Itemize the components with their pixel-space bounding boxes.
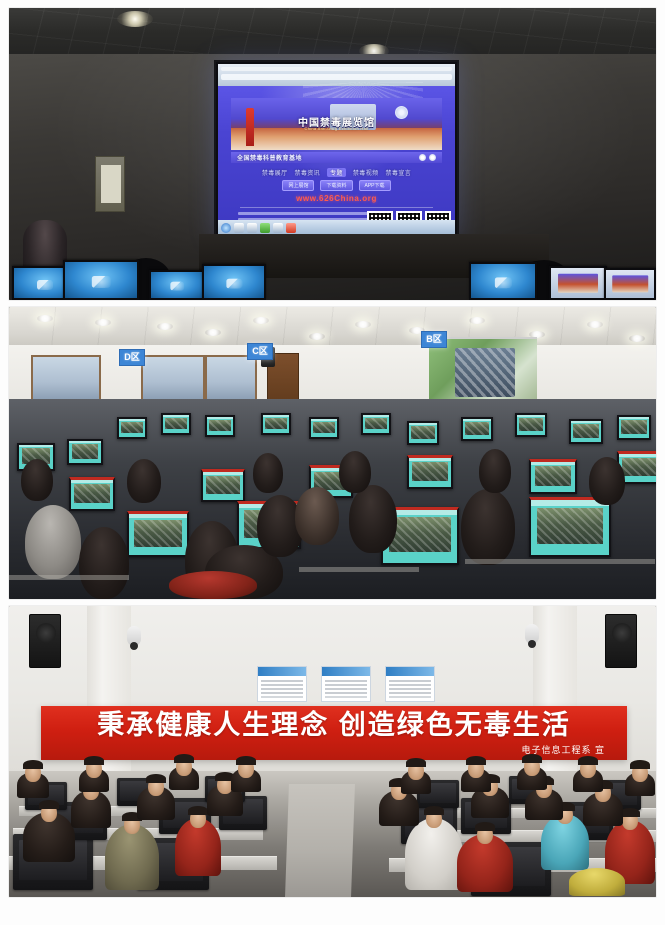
center-aisle — [285, 784, 355, 897]
site-hero-banner: 中国禁毒展览馆 China Anti-Drug Exhibition Hall — [231, 98, 442, 150]
desk — [299, 567, 419, 572]
student — [349, 485, 397, 553]
monitor — [202, 264, 266, 300]
window — [205, 355, 257, 401]
window — [31, 355, 101, 401]
monitor — [261, 413, 291, 435]
monitor — [604, 268, 656, 300]
browser-address-bar[interactable] — [221, 74, 452, 80]
nav-item-0[interactable]: 禁毒展厅 — [262, 168, 288, 177]
site-action-buttons[interactable]: 网上展馆 下载资料 APP下载 — [218, 180, 455, 191]
ceiling-light-icon — [469, 317, 485, 324]
website-body: 中国禁毒展览馆 China Anti-Drug Exhibition Hall … — [218, 86, 455, 220]
projection-screen: 中国禁毒展览馆 China Anti-Drug Exhibition Hall … — [214, 60, 459, 240]
student — [25, 505, 81, 579]
student — [169, 766, 199, 790]
student — [401, 770, 431, 794]
ceiling-light-icon — [157, 323, 173, 330]
site-subtitle-bar: 全国禁毒科普教育基地 — [231, 152, 442, 163]
student — [169, 571, 257, 599]
student — [105, 824, 159, 890]
student-crowd — [9, 399, 656, 599]
student — [23, 812, 75, 862]
banner-slogan: 秉承健康人生理念 创造绿色无毒生活 — [41, 712, 627, 739]
start-orb-icon[interactable] — [221, 223, 231, 233]
student — [339, 451, 371, 493]
monitor — [69, 477, 115, 511]
student — [71, 790, 111, 828]
divider — [240, 207, 433, 208]
monitor — [549, 266, 607, 300]
student — [379, 790, 419, 826]
button-online-hall[interactable]: 网上展馆 — [282, 180, 314, 191]
student — [79, 527, 129, 599]
monitor — [407, 421, 439, 445]
monitor — [127, 511, 189, 557]
ceiling-light-icon — [205, 329, 221, 336]
photo-top-lecture-hall: 中国禁毒展览馆 China Anti-Drug Exhibition Hall … — [9, 8, 656, 300]
monitor — [67, 439, 103, 465]
student — [405, 818, 463, 890]
nav-item-2[interactable]: 专题 — [327, 168, 346, 177]
site-nav[interactable]: 禁毒展厅 禁毒资讯 专题 禁毒视频 禁毒宣言 — [218, 168, 455, 177]
zone-sign-d: D区 — [119, 349, 145, 366]
monitor — [205, 415, 235, 437]
student — [589, 457, 625, 505]
student — [573, 768, 603, 792]
site-url-text: www.626China.org — [218, 194, 455, 203]
monitor — [361, 413, 391, 435]
ceiling-light-icon — [629, 335, 645, 342]
taskbar-icon[interactable] — [260, 223, 270, 233]
monitor — [515, 413, 547, 437]
wall-poster — [385, 666, 435, 702]
student — [127, 459, 161, 503]
student — [231, 768, 261, 792]
ceiling-light-icon — [587, 321, 603, 328]
nav-item-1[interactable]: 禁毒资讯 — [294, 168, 320, 177]
monitor — [529, 497, 611, 557]
student — [569, 868, 625, 896]
zone-sign-c: C区 — [247, 343, 273, 360]
monitor — [569, 419, 603, 444]
student — [461, 489, 515, 565]
ceiling-light-icon — [253, 317, 269, 324]
monitor — [407, 455, 453, 489]
memorial-pillar-icon — [246, 108, 254, 146]
speaker-icon — [605, 614, 637, 668]
monitor — [529, 459, 577, 494]
student — [461, 768, 491, 792]
monitor — [161, 413, 191, 435]
photo-middle-computer-lab: D区 C区 B区 — [9, 307, 656, 599]
nav-item-4[interactable]: 禁毒宣言 — [386, 168, 412, 177]
subbar-title: 全国禁毒科普教育基地 — [237, 153, 302, 162]
desk — [465, 559, 655, 564]
nav-item-3[interactable]: 禁毒视频 — [353, 168, 379, 177]
ceiling-light-icon — [355, 321, 371, 328]
window — [141, 355, 205, 401]
photo-collage-page: 中国禁毒展览馆 China Anti-Drug Exhibition Hall … — [0, 0, 665, 925]
taskbar-icon[interactable] — [273, 223, 283, 233]
ceiling-light-icon — [37, 315, 53, 322]
monitor — [469, 262, 537, 300]
wall-poster — [321, 666, 371, 702]
taskbar-icon[interactable] — [234, 223, 244, 233]
wall-poster — [257, 666, 307, 702]
student — [175, 818, 221, 876]
security-camera-icon — [127, 626, 141, 646]
student — [541, 814, 589, 870]
student — [79, 768, 109, 792]
foreground-monitors — [9, 234, 656, 300]
security-camera-icon — [525, 624, 539, 644]
browser-menubar — [221, 67, 452, 71]
monitor — [617, 415, 651, 440]
student — [583, 792, 623, 826]
anti-drug-banner: 秉承健康人生理念 创造绿色无毒生活 电子信息工程系 宣 — [41, 706, 627, 760]
student — [253, 453, 283, 493]
student — [479, 449, 511, 493]
student — [517, 766, 547, 790]
student — [625, 772, 655, 796]
button-download-materials[interactable]: 下载资料 — [320, 180, 352, 191]
hero-subtitle: China Anti-Drug Exhibition Hall — [305, 126, 369, 131]
button-app-download[interactable]: APP下载 — [359, 180, 391, 191]
ceiling-lamp-icon — [117, 11, 153, 27]
ceiling — [9, 8, 656, 60]
student — [21, 459, 53, 501]
ceiling-light-icon — [95, 319, 111, 326]
emblem-icon — [395, 106, 408, 119]
wall-notice-box — [95, 156, 125, 212]
monitor — [149, 270, 205, 300]
taskbar-icon[interactable] — [247, 223, 257, 233]
monitor — [309, 417, 339, 439]
student — [525, 788, 563, 820]
projected-browser-window: 中国禁毒展览馆 China Anti-Drug Exhibition Hall … — [218, 64, 455, 236]
ceiling-light-icon — [309, 333, 325, 340]
monitor — [201, 469, 245, 502]
monitor — [461, 417, 493, 441]
photo-bottom-banner-room: 秉承健康人生理念 创造绿色无毒生活 电子信息工程系 宣 — [9, 606, 656, 897]
zone-sign-b: B区 — [421, 331, 447, 348]
speaker-icon — [29, 614, 61, 668]
student — [17, 772, 49, 798]
taskbar-icon[interactable] — [286, 223, 296, 233]
student — [295, 487, 339, 545]
hero-ground — [231, 128, 442, 150]
monitor — [63, 260, 139, 300]
desk — [9, 575, 129, 580]
monitor — [117, 417, 147, 439]
student — [137, 786, 175, 820]
partner-logos — [419, 154, 436, 161]
student — [457, 834, 513, 892]
